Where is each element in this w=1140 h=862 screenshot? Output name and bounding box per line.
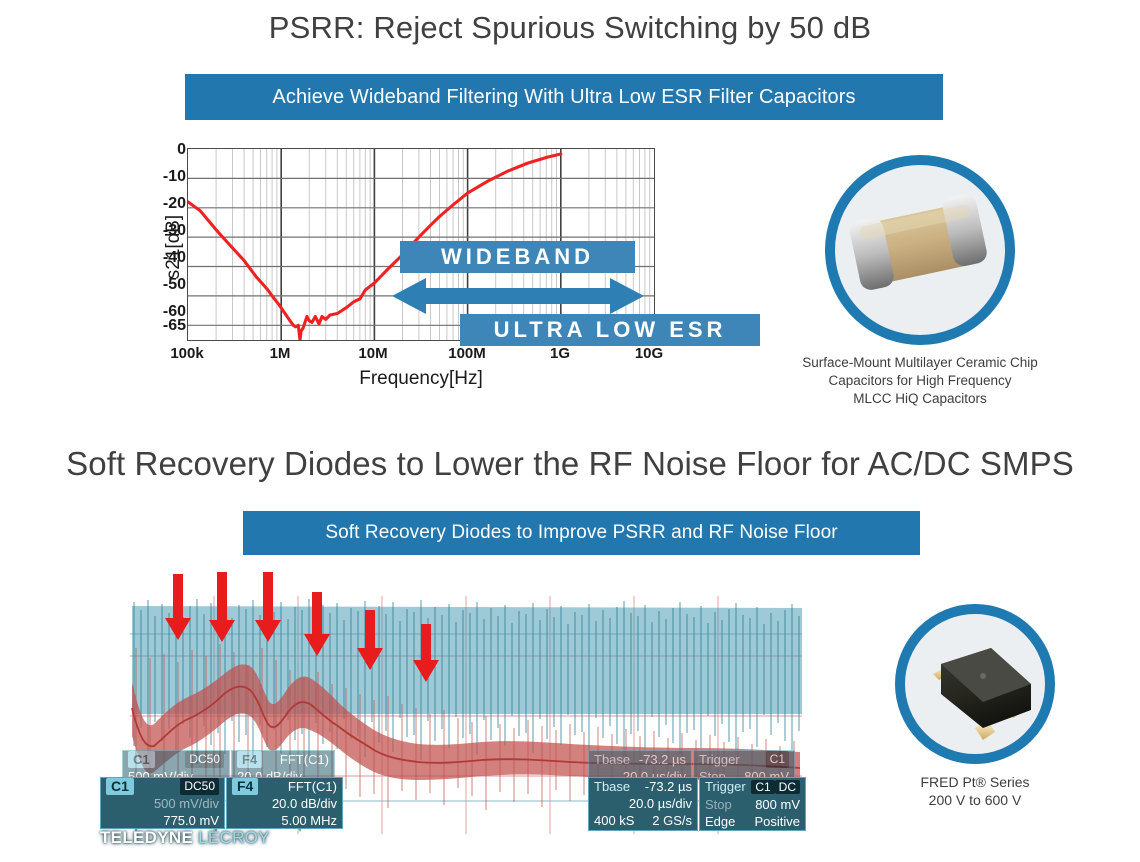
callout-ultra-low-esr: ULTRA LOW ESR bbox=[460, 314, 760, 346]
mlcc-caption-line3: MLCC HiQ Capacitors bbox=[795, 390, 1045, 408]
c1-coupling-ghost: DC50 bbox=[185, 751, 224, 768]
c1-readout[interactable]: C1 DC50 500 mV/div 775.0 mV bbox=[100, 777, 225, 829]
trigger-label: Trigger bbox=[705, 778, 746, 796]
f4-function: FFT(C1) bbox=[288, 778, 337, 795]
trigger-label-ghost: Trigger bbox=[699, 751, 740, 768]
logo-teledyne: TELEDYNE bbox=[100, 828, 193, 847]
y-tick-4: -40 bbox=[140, 250, 186, 266]
y-tick-5: -50 bbox=[140, 277, 186, 293]
tbase-rate: 2 GS/s bbox=[652, 812, 692, 829]
annotation-arrows bbox=[130, 572, 810, 692]
section1-banner: Achieve Wideband Filtering With Ultra Lo… bbox=[185, 74, 943, 120]
c1-scale: 500 mV/div bbox=[154, 795, 219, 812]
c1-readout-ghost: C1DC50 500 mV/div bbox=[122, 750, 230, 778]
f4-channel-ghost: F4 bbox=[237, 751, 262, 768]
trigger-readout-ghost: TriggerC1 Stop800 mV bbox=[693, 750, 795, 780]
fred-pt-caption-line1: FRED Pt® Series bbox=[875, 773, 1075, 791]
f4-channel[interactable]: F4 bbox=[232, 778, 258, 795]
fred-pt-caption: FRED Pt® Series 200 V to 600 V bbox=[875, 773, 1075, 810]
y-tick-0: 0 bbox=[140, 142, 186, 158]
trigger-source[interactable]: C1 bbox=[751, 780, 774, 794]
tbase-readout-ghost: Tbase-73.2 µs 20.0 µs/div bbox=[588, 750, 692, 780]
fred-pt-dpak-diode-icon bbox=[895, 604, 1055, 764]
y-tick-2: -20 bbox=[140, 196, 186, 212]
psrr-bode-chart: s21[dB] 0 -10 -20 -30 -40 -50 -60 -65 bbox=[120, 140, 720, 395]
f4-readout[interactable]: F4 FFT(C1) 20.0 dB/div 5.00 MHz bbox=[226, 777, 343, 829]
callout-wideband: WIDEBAND bbox=[400, 241, 635, 273]
x-tick-1: 1M bbox=[270, 345, 291, 362]
section1-title: PSRR: Reject Spurious Switching by 50 dB bbox=[0, 10, 1140, 46]
trigger-coupling[interactable]: DC bbox=[775, 780, 800, 794]
product-mlcc-capacitor: Surface-Mount Multilayer Ceramic Chip Ca… bbox=[795, 155, 1045, 407]
x-tick-3: 100M bbox=[448, 345, 486, 362]
mlcc-caption-line2: Capacitors for High Frequency bbox=[795, 372, 1045, 390]
trigger-state: Stop bbox=[705, 796, 732, 813]
x-tick-0: 100k bbox=[170, 345, 203, 362]
y-tick-1: -10 bbox=[140, 169, 186, 185]
tbase-delay-ghost: -73.2 µs bbox=[639, 751, 686, 768]
y-tick-3: -30 bbox=[140, 223, 186, 239]
section2-title: Soft Recovery Diodes to Lower the RF Noi… bbox=[0, 445, 1140, 483]
c1-coupling[interactable]: DC50 bbox=[180, 778, 219, 795]
down-arrow-icon bbox=[165, 572, 439, 682]
tbase-scale: 20.0 µs/div bbox=[629, 795, 692, 812]
fred-pt-caption-line2: 200 V to 600 V bbox=[875, 791, 1075, 809]
x-tick-2: 10M bbox=[358, 345, 387, 362]
teledyne-lecroy-logo: TELEDYNE LECROY bbox=[100, 828, 270, 848]
tbase-memory: 400 kS bbox=[594, 812, 634, 829]
trigger-readout[interactable]: Trigger C1DC Stop 800 mV Edge Positive bbox=[699, 777, 806, 831]
trigger-type: Edge bbox=[705, 813, 735, 830]
trigger-slope: Positive bbox=[754, 813, 800, 830]
c1-channel[interactable]: C1 bbox=[106, 778, 134, 795]
wideband-double-arrow bbox=[392, 276, 644, 316]
tbase-delay: -73.2 µs bbox=[645, 778, 692, 795]
mlcc-caption: Surface-Mount Multilayer Ceramic Chip Ca… bbox=[795, 354, 1045, 407]
tbase-label-ghost: Tbase bbox=[594, 751, 630, 768]
x-tick-4: 1G bbox=[550, 345, 570, 362]
f4-scale: 20.0 dB/div bbox=[272, 795, 337, 812]
tbase-label: Tbase bbox=[594, 778, 630, 795]
c1-channel-ghost: C1 bbox=[128, 751, 155, 768]
mlcc-caption-line1: Surface-Mount Multilayer Ceramic Chip bbox=[795, 354, 1045, 372]
trigger-level: 800 mV bbox=[755, 796, 800, 813]
x-tick-5: 10G bbox=[635, 345, 663, 362]
diode-illustration bbox=[905, 614, 1045, 754]
c1-offset: 775.0 mV bbox=[163, 812, 219, 829]
product-fred-pt-diode: FRED Pt® Series 200 V to 600 V bbox=[875, 604, 1075, 810]
f4-span: 5.00 MHz bbox=[281, 812, 337, 829]
tbase-readout[interactable]: Tbase -73.2 µs 20.0 µs/div 400 kS 2 GS/s bbox=[588, 777, 698, 831]
slide-root: PSRR: Reject Spurious Switching by 50 dB… bbox=[0, 0, 1140, 862]
chart-x-axis-label: Frequency[Hz] bbox=[187, 368, 655, 390]
mlcc-chip-capacitor-icon bbox=[825, 155, 1015, 345]
trigger-source-ghost: C1 bbox=[766, 751, 789, 768]
capacitor-illustration bbox=[835, 165, 1005, 335]
f4-function-ghost: FFT(C1) bbox=[280, 751, 329, 768]
y-tick-7: -65 bbox=[140, 318, 186, 334]
section2-banner: Soft Recovery Diodes to Improve PSRR and… bbox=[243, 511, 920, 555]
f4-readout-ghost: F4FFT(C1) 20.0 dB/div bbox=[231, 750, 335, 778]
chart-x-ticks: 100k 1M 10M 100M 1G 10G bbox=[187, 345, 655, 367]
logo-lecroy: LECROY bbox=[198, 828, 270, 847]
